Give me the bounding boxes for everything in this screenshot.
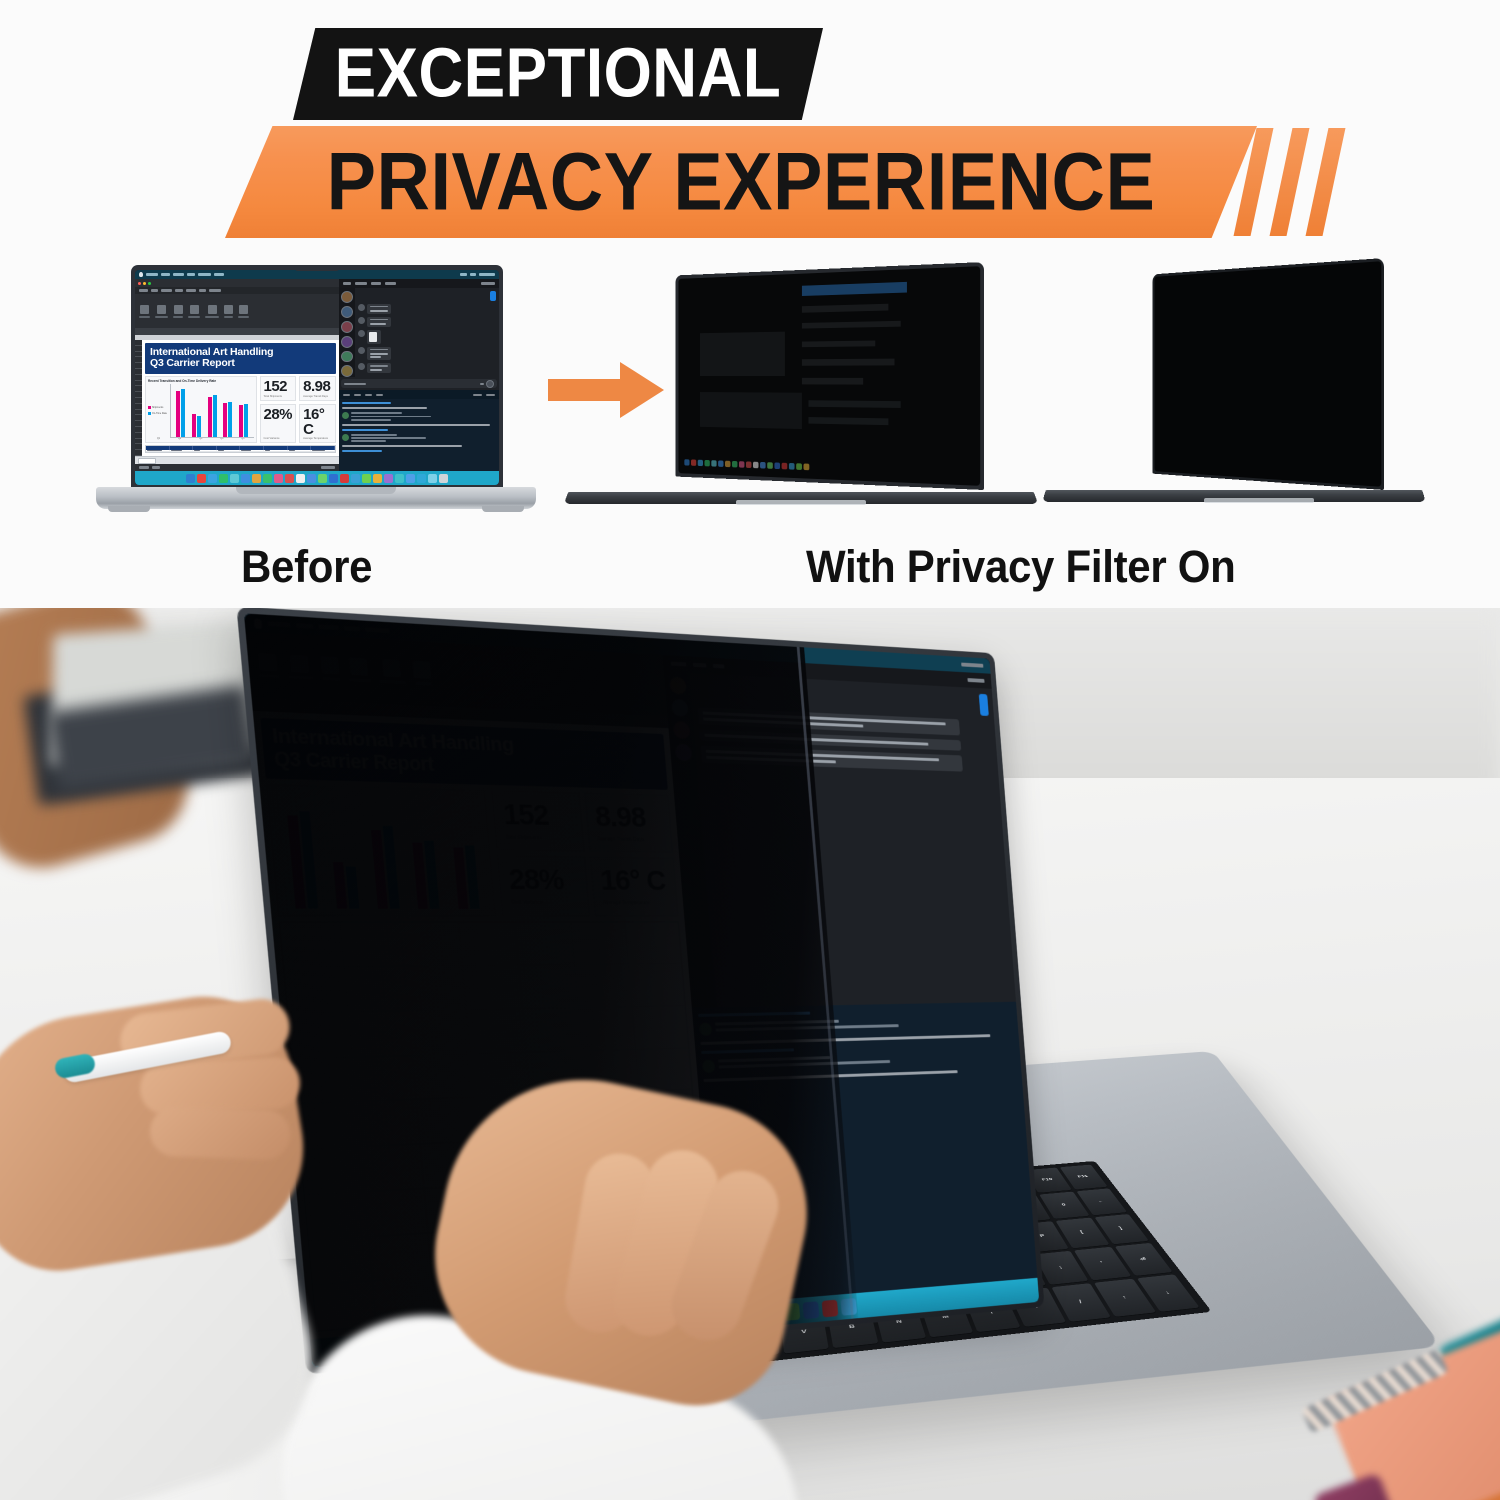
key-label: ↑: [1121, 1295, 1127, 1300]
dock-app-icon[interactable]: [439, 474, 448, 483]
bar: [192, 414, 196, 437]
spreadsheet-canvas[interactable]: International Art Handling Q3 Carrier Re…: [135, 340, 339, 456]
lifestyle-photo: escF1F2F3F4F5F6F7F8F9F10F11 ~1234567890←…: [0, 608, 1500, 1500]
avatar[interactable]: [674, 744, 692, 762]
bar-group: [287, 811, 318, 908]
avatar: [358, 304, 365, 311]
kpi-label: Cost Variance: [511, 900, 580, 906]
table-cell: [466, 1009, 526, 1053]
sheet-tab[interactable]: [138, 458, 156, 464]
menubar-item: [214, 273, 224, 276]
kpi-card: 28%Cost Variance: [260, 404, 297, 443]
table-cell: [240, 452, 264, 453]
chart-x-axis: Q1Q2Q3Q4Q5: [148, 438, 254, 440]
table-cell: [313, 1281, 377, 1329]
table-cell: [629, 964, 685, 1006]
table-cell: [311, 450, 335, 452]
laptop-before: International Art Handling Q3 Carrier Re…: [96, 265, 536, 530]
report-dashboard: International Art Handling Q3 Carrier Re…: [142, 340, 339, 456]
ribbon-tab[interactable]: [186, 289, 196, 292]
avatar: [342, 412, 349, 419]
bar-group: [223, 402, 232, 436]
ribbon-tab[interactable]: [151, 289, 158, 292]
kpi-label: Average Temperature: [303, 437, 332, 440]
dock-app-icon[interactable]: [252, 474, 261, 483]
chat-bubble-outgoing: [979, 694, 989, 716]
x-tick-label: Q4: [220, 438, 223, 440]
dock-app-icon: [704, 460, 709, 466]
key-label: F10: [1041, 1178, 1053, 1182]
dock-app-icon[interactable]: [384, 474, 393, 483]
table-cell: [571, 922, 629, 964]
macos-dock[interactable]: [135, 471, 499, 485]
dock-app-icon[interactable]: [197, 474, 206, 483]
bar-group: [192, 414, 201, 437]
desktop-windows: International Art Handling Q3 Carrier Re…: [135, 279, 499, 471]
bar: [239, 405, 243, 436]
dock-app-icon: [804, 464, 810, 471]
product-marketing-image: EXCEPTIONAL PRIVACY EXPERIENCE: [0, 0, 1500, 1500]
mail-toolbar[interactable]: [339, 390, 499, 399]
kpi-label: Total Shipments: [505, 834, 574, 841]
dock-app-icon: [753, 462, 759, 469]
bar: [223, 403, 227, 436]
dock-app-icon: [760, 462, 766, 469]
chat-toolbar[interactable]: [339, 279, 499, 288]
kpi-value: 16° C: [600, 866, 669, 895]
avatar[interactable]: [341, 306, 353, 318]
chat-contacts-rail[interactable]: [339, 288, 355, 377]
laptop-foot: [108, 506, 150, 512]
clock-display: [961, 663, 983, 668]
ribbon-tabs[interactable]: [135, 287, 339, 294]
kpi-label: Average Temperature: [602, 900, 669, 906]
dock-app-icon[interactable]: [803, 1301, 820, 1319]
dock-app-icon[interactable]: [362, 474, 371, 483]
ribbon-group-font[interactable]: [155, 305, 168, 318]
mail-message: [342, 434, 496, 442]
chat-window: [663, 655, 1016, 1008]
chat-bubble-incoming: [367, 317, 391, 327]
avatar: [358, 330, 365, 337]
bar: [208, 397, 212, 437]
dock-app-icon[interactable]: [373, 474, 382, 483]
bar-chart: [266, 784, 496, 916]
ribbon-group-number[interactable]: [188, 305, 200, 318]
table-cell: [353, 1056, 416, 1102]
laptop-base-notch: [236, 487, 396, 494]
table-cell: [345, 967, 408, 1012]
legend-label: On-Time Rate: [152, 412, 167, 415]
caption-before: Before: [241, 541, 372, 593]
table-cell: [523, 1008, 582, 1051]
sheet-tabs[interactable]: [135, 456, 339, 464]
kpi-label: Total Shipments: [264, 395, 293, 398]
headline-line-2: PRIVACY EXPERIENCE: [327, 141, 1156, 222]
table-cell: [357, 1100, 420, 1146]
menubar-item: [161, 273, 170, 276]
kpi-value: 152: [502, 800, 573, 831]
table-cell: [341, 922, 404, 966]
chat-bubble-outgoing: [490, 291, 496, 301]
wifi-icon: [460, 273, 467, 276]
x-tick-label: Q2: [178, 438, 181, 440]
table-cell: [408, 1010, 470, 1054]
close-icon[interactable]: [138, 282, 141, 285]
table-cell: [575, 965, 633, 1007]
chat-input-field[interactable]: [341, 379, 497, 388]
finger: [149, 1106, 291, 1161]
table-cell: [280, 922, 345, 967]
key-label: ': [1100, 1261, 1104, 1265]
avatar[interactable]: [672, 721, 690, 739]
table-cell: [146, 450, 170, 452]
menubar-status-items: [460, 273, 495, 276]
avatar[interactable]: [341, 365, 353, 377]
bar: [228, 402, 232, 436]
status-bar: [135, 464, 339, 471]
menubar-item: [198, 273, 211, 276]
mail-window: [339, 390, 499, 471]
x-tick-label: Q1: [157, 438, 160, 440]
avatar: [358, 363, 365, 370]
chat-bubble-incoming: [701, 746, 963, 772]
laptop-privacy-lid-2: [1152, 258, 1384, 490]
chat-file-attachment[interactable]: [367, 330, 381, 344]
bar-group: [453, 845, 480, 908]
chat-bubble-incoming: [367, 363, 391, 373]
minimize-icon[interactable]: [143, 282, 146, 285]
ribbon-group-paste[interactable]: [139, 305, 150, 318]
dock-app-icon[interactable]: [340, 474, 349, 483]
table-row[interactable]: [284, 964, 685, 1014]
mail-message: [699, 1016, 1013, 1036]
chart-plot-area: [170, 384, 254, 438]
menubar-item: [173, 273, 184, 276]
avatar: [342, 434, 349, 441]
table-cell: [284, 967, 349, 1012]
dock-app-icon[interactable]: [230, 474, 239, 483]
laptop-privacy-lid: [675, 262, 984, 490]
table-cell: [625, 922, 681, 964]
bar: [213, 395, 217, 437]
window-titlebar: [135, 279, 339, 287]
dock-app-icon: [725, 461, 730, 468]
bar: [197, 416, 201, 437]
chart-legend: Shipments On-Time Rate: [148, 384, 170, 438]
document-icon: [369, 332, 377, 342]
dock-app-icon: [684, 459, 689, 465]
dock-app-icon[interactable]: [318, 474, 327, 483]
bar: [181, 389, 185, 437]
kpi-value: 8.98: [594, 802, 663, 832]
ribbon-group-align[interactable]: [173, 305, 183, 318]
key-label: /: [1078, 1300, 1083, 1305]
kpi-value: 28%: [508, 865, 579, 895]
report-title-block: International Art Handling Q3 Carrier Re…: [145, 343, 336, 374]
dock-app-icon[interactable]: [417, 474, 426, 483]
dock-app-icon[interactable]: [351, 474, 360, 483]
key-label: V: [801, 1329, 807, 1334]
send-icon[interactable]: [486, 380, 494, 388]
bar-group: [239, 404, 248, 436]
dock-app-icon[interactable]: [307, 474, 316, 483]
bar: [244, 404, 248, 436]
dock-app-icon[interactable]: [274, 474, 283, 483]
dock-app-icon[interactable]: [296, 474, 305, 483]
row-headers: [135, 340, 142, 456]
ribbon-group-editing[interactable]: [238, 305, 249, 318]
menubar-item: [187, 273, 195, 276]
spreadsheet-window: International Art Handling Q3 Carrier Re…: [135, 279, 339, 471]
table-cell: [193, 452, 217, 453]
table-cell: [516, 922, 575, 965]
table-row[interactable]: [280, 922, 682, 968]
dock-app-icon[interactable]: [208, 474, 217, 483]
kpi-value: 8.98: [303, 379, 332, 394]
kpi-card: 16° CAverage Temperature: [590, 857, 679, 916]
table-cell: [369, 1233, 432, 1280]
dock-app-icon: [698, 460, 703, 466]
table-cell: [361, 1145, 424, 1191]
macos-dock-dim: [684, 458, 972, 477]
bar-group: [371, 826, 400, 909]
ribbon-tab[interactable]: [139, 289, 148, 292]
kpi-grid: 152Total Shipments 8.98Average Transit D…: [260, 376, 336, 443]
table-cell: [217, 450, 241, 452]
key-label: ↓: [1164, 1290, 1171, 1295]
table-cell: [288, 450, 312, 452]
table-cell: [463, 966, 523, 1010]
chat-bubble-incoming: [367, 304, 391, 314]
chat-message-feed: [689, 673, 1016, 1008]
avatar[interactable]: [671, 699, 689, 717]
dock-app-icon: [774, 462, 780, 469]
chart-caption: Recent Transition and On-Time Delivery R…: [148, 379, 254, 383]
maximize-icon[interactable]: [148, 282, 151, 285]
avatar[interactable]: [341, 291, 353, 303]
laptop-base-notch: [736, 500, 866, 505]
kpi-label: Average Transit Days: [597, 836, 664, 843]
table-cell: [405, 966, 467, 1010]
laptop-before-lid: International Art Handling Q3 Carrier Re…: [131, 265, 503, 489]
ribbon-tab[interactable]: [209, 289, 221, 292]
report-title-block: International Art Handling Q3 Carrier Re…: [260, 718, 668, 790]
table-cell: [470, 1053, 530, 1097]
table-cell: [292, 1058, 357, 1104]
clock-display: [479, 273, 495, 276]
bar-group: [413, 841, 440, 909]
battery-icon: [470, 273, 476, 276]
dock-app-icon[interactable]: [428, 474, 437, 483]
avatar: [702, 1059, 715, 1072]
dock-app-icon[interactable]: [395, 474, 404, 483]
table-cell: [240, 450, 264, 452]
dock-app-icon[interactable]: [822, 1299, 839, 1317]
table-cell: [459, 922, 519, 965]
laptop-foot: [482, 506, 524, 512]
x-tick-label: Q3: [199, 438, 202, 440]
table-cell: [146, 452, 170, 453]
kpi-value: 28%: [264, 407, 293, 422]
dock-app-icon: [732, 461, 737, 468]
dock-app-icon: [739, 461, 744, 468]
key-label: ⏎: [1139, 1257, 1148, 1262]
table-cell: [264, 450, 288, 452]
formula-bar[interactable]: [135, 328, 339, 335]
top-comparison-panel: EXCEPTIONAL PRIVACY EXPERIENCE: [0, 0, 1500, 608]
table-cell: [193, 450, 217, 452]
dock-app-icon: [789, 463, 795, 470]
avatar[interactable]: [341, 321, 353, 333]
dock-app-icon[interactable]: [241, 474, 250, 483]
apple-logo-icon: [139, 272, 143, 277]
laptop-privacy-screen-dark: [678, 266, 980, 486]
ribbon-tab[interactable]: [175, 289, 183, 292]
key-label: F11: [1077, 1175, 1089, 1179]
kpi-value: 152: [264, 379, 293, 394]
table-cell: [170, 450, 194, 452]
x-tick-label: Q5: [241, 438, 244, 440]
table-cell: [632, 1006, 688, 1048]
chat-window: [339, 279, 499, 390]
table-cell: [305, 1192, 369, 1240]
avatar: [699, 1022, 712, 1035]
dock-app-icon[interactable]: [186, 474, 195, 483]
dock-app-icon[interactable]: [329, 474, 338, 483]
table-cell: [288, 452, 312, 453]
dock-app-icon: [767, 462, 773, 469]
kpi-card: 28%Cost Variance: [497, 856, 589, 916]
dock-app-icon: [782, 463, 788, 470]
ribbon-tab[interactable]: [199, 289, 206, 292]
key-label: ;: [1058, 1265, 1063, 1269]
menubar-item: [146, 273, 158, 276]
key-label: [: [1080, 1231, 1084, 1235]
kpi-label: Cost Variance: [264, 437, 293, 440]
chat-bubble-incoming: [367, 347, 391, 361]
decorative-slash-icon: [1306, 128, 1346, 236]
headline-banner-secondary: PRIVACY EXPERIENCE: [225, 126, 1257, 238]
bar-group: [176, 389, 185, 437]
bar-chart: Recent Transition and On-Time Delivery R…: [145, 376, 257, 443]
key-label: B: [849, 1324, 856, 1329]
dock-app-icon[interactable]: [219, 474, 228, 483]
webcam-notch-icon: [294, 265, 340, 271]
headline-banner-primary: EXCEPTIONAL: [293, 28, 823, 120]
table-cell: [519, 965, 578, 1008]
decorative-slash-icon: [1270, 128, 1310, 236]
key-label: ]: [1119, 1227, 1124, 1231]
kpi-grid: 152Total Shipments 8.98Average Transit D…: [492, 790, 679, 916]
chat-message-feed: [355, 288, 499, 377]
kpi-card: 152Total Shipments: [260, 376, 297, 401]
table-cell: [170, 452, 194, 453]
legend-label: Shipments: [152, 406, 163, 409]
kpi-value: 16° C: [303, 407, 332, 437]
kpi-card: 8.98Average Transit Days: [584, 792, 673, 853]
report-title-line-2: Q3 Carrier Report: [150, 358, 331, 370]
table-cell: [578, 1007, 636, 1050]
laptop-base-notch: [1204, 498, 1314, 503]
table-row[interactable]: [146, 452, 335, 453]
bar-group: [208, 395, 217, 437]
table-cell: [301, 1147, 365, 1194]
mail-message: [342, 412, 496, 420]
avatar[interactable]: [341, 336, 353, 348]
ribbon-group-styles[interactable]: [205, 305, 219, 318]
macos-menubar: [135, 270, 499, 279]
avatar: [358, 317, 365, 324]
right-windows-column: [339, 279, 499, 471]
data-table[interactable]: [145, 445, 336, 453]
table-cell: [264, 452, 288, 453]
kpi-card: 152Total Shipments: [492, 790, 585, 852]
bar: [346, 867, 360, 909]
dock-app-icon: [711, 460, 716, 466]
table-cell: [309, 1237, 373, 1285]
avatar: [358, 347, 365, 354]
kpi-card: 16° CAverage Temperature: [299, 404, 336, 443]
laptop-privacy-screen-black: [1154, 261, 1381, 487]
dock-app-icon: [796, 463, 802, 470]
laptop-privacy-side: [1024, 258, 1424, 533]
table-cell: [412, 1054, 474, 1099]
avatar[interactable]: [669, 677, 687, 695]
dock-app-icon[interactable]: [406, 474, 415, 483]
key-label: 0: [1061, 1203, 1067, 1207]
key-label: P: [1039, 1234, 1045, 1238]
dock-app-icon[interactable]: [841, 1298, 858, 1316]
ribbon-group-cells[interactable]: [224, 305, 233, 318]
table-cell: [217, 452, 241, 453]
mail-message: [702, 1050, 1016, 1073]
table-cell: [297, 1102, 362, 1149]
dock-app-icon[interactable]: [263, 474, 272, 483]
dock-app-icon: [746, 461, 751, 468]
mail-thread: [339, 399, 499, 471]
headline-line-1: EXCEPTIONAL: [335, 39, 781, 108]
laptop-privacy-angled: [566, 262, 1036, 532]
table-cell: [349, 1011, 412, 1056]
caption-with-privacy-filter: With Privacy Filter On: [806, 541, 1235, 593]
dock-app-icon: [718, 460, 723, 466]
dock-app-icon: [691, 459, 696, 465]
table-cell: [365, 1189, 428, 1236]
table-cell: [288, 1013, 353, 1059]
ribbon-toolbar[interactable]: [135, 294, 339, 328]
dashboard-row: Recent Transition and On-Time Delivery R…: [145, 376, 336, 443]
key-label: ←: [1097, 1200, 1105, 1204]
kpi-label: Average Transit Days: [303, 395, 332, 398]
table-cell: [311, 452, 335, 453]
laptop-before-screen: International Art Handling Q3 Carrier Re…: [135, 270, 499, 485]
ribbon-tab[interactable]: [161, 289, 172, 292]
kpi-card: 8.98Average Transit Days: [299, 376, 336, 401]
bar: [176, 391, 180, 437]
apple-logo-icon: [253, 618, 262, 628]
avatar[interactable]: [341, 351, 353, 363]
table-cell: [401, 922, 463, 966]
table-cell: [636, 1048, 692, 1091]
bar-group: [333, 862, 359, 908]
dock-app-icon[interactable]: [285, 474, 294, 483]
